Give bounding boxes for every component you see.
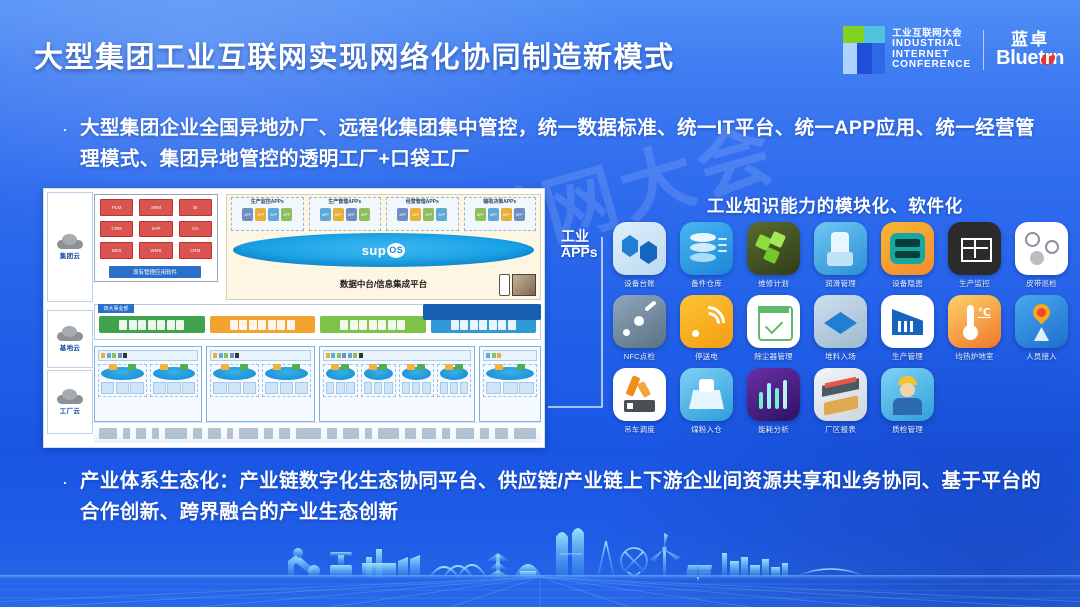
divisions-tag: 四大事业部 [98, 304, 134, 313]
factory-device-row [402, 382, 431, 394]
app-row: 设备台账 备件仓库 维修计划 润滑管理 设备隐患 生产监控 [612, 222, 1080, 289]
app-item-soaking-pit[interactable]: ℃ 均热炉地室 [947, 295, 1002, 362]
factory-node [323, 364, 358, 397]
app-category-production-monitor: 生产监控APPs APP APP APP APP [231, 197, 304, 231]
mini-app: APP [501, 208, 512, 221]
factory-switch-row [210, 350, 310, 361]
stockpile-entry-icon[interactable] [814, 295, 867, 348]
photo-thumbnail [512, 274, 536, 296]
factory-device-row [101, 382, 144, 394]
supos-platform-box: 生产监控APPs APP APP APP APP 生产管理APPs APP AP… [226, 194, 541, 300]
factory-device-row [153, 382, 196, 394]
app-label: 停送电 [695, 351, 718, 362]
factory-node [262, 364, 311, 397]
factory-supos-bowl [265, 367, 308, 380]
app-category-label: 生产监控APPs [232, 198, 303, 205]
industrial-apps-tag: 工业 APPs [561, 228, 598, 260]
legacy-cell: CRM [179, 242, 212, 259]
brand-logo: 蓝卓 Bluetrn [996, 31, 1064, 70]
mini-app-row: APP APP APP APP [465, 207, 536, 222]
factory-nodes [98, 364, 198, 397]
factory-supos-bowl [213, 367, 256, 380]
page-title: 大型集团工业互联网实现网络化协同制造新模式 [34, 34, 675, 76]
brand-en-prefix: Bluet [996, 47, 1045, 69]
app-item-energy-analysis[interactable]: 能耗分析 [746, 368, 801, 435]
app-item-personnel-access[interactable]: 人员接入 [1014, 295, 1069, 362]
crane-dispatch-icon[interactable] [613, 368, 666, 421]
app-item-belt-inspection[interactable]: 皮带巡检 [1014, 222, 1069, 289]
factory-device-row [440, 382, 469, 394]
mini-app: APP [488, 208, 499, 221]
conference-mark-icon [843, 26, 885, 74]
production-manage-icon[interactable] [881, 295, 934, 348]
bullet-point-2: · 产业体系生态化：产业链数字化生态协同平台、供应链/产业链上下游企业间资源共享… [62, 466, 1052, 528]
cloud-icon [57, 389, 83, 404]
app-label: 润滑管理 [825, 278, 856, 289]
factory-node [150, 364, 199, 397]
footer-skyline [0, 527, 1080, 607]
mini-app: APP [255, 208, 266, 221]
factory-block [94, 346, 202, 422]
factory-supos-bowl [402, 367, 431, 380]
cloud-label-factory: 工厂云 [60, 405, 80, 415]
factory-device-row [213, 382, 256, 394]
app-item-device-ledger[interactable]: 设备台账 [612, 222, 667, 289]
factory-node [210, 364, 259, 397]
supos-logo: supOS [233, 233, 534, 267]
logo-group: 工业互联网大会 INDUSTRIAL INTERNET CONFERENCE 蓝… [843, 24, 1064, 76]
app-label: 堆料入场 [825, 351, 856, 362]
app-item-device-hazard[interactable]: 设备隐患 [880, 222, 935, 289]
app-item-crane-dispatch[interactable]: 吊车调度 [612, 368, 667, 435]
factory-node [399, 364, 434, 397]
factory-block [206, 346, 314, 422]
app-label: 煤粉入仓 [691, 424, 722, 435]
cloud-label-group: 集团云 [60, 250, 80, 260]
division-block [210, 316, 316, 333]
app-label: 设备隐患 [892, 278, 923, 289]
mini-app: APP [242, 208, 253, 221]
device-hazard-icon[interactable] [881, 222, 934, 275]
app-item-production-manage[interactable]: 生产管理 [880, 295, 935, 362]
dashboard-strip [423, 304, 541, 320]
mini-app: APP [436, 208, 447, 221]
factory-device-row [326, 382, 355, 394]
skyline-graphic-icon [0, 527, 1080, 607]
cloud-icon [57, 326, 83, 341]
app-label: 质检管理 [892, 424, 923, 435]
legacy-cell: OA [179, 221, 212, 238]
factory-supos-bowl [486, 367, 534, 380]
architecture-diagram: 集团云 基地云 工厂云 PLM SRM BI CRM SAP OA [43, 188, 545, 448]
nfc-check-icon[interactable] [613, 295, 666, 348]
app-category-production-manage: 生产管理APPs APP APP APP APP [309, 197, 382, 231]
app-label: 厂区报表 [825, 424, 856, 435]
brand-name-en: Bluetrn [996, 48, 1064, 69]
brand-en-dot-letter: r [1045, 47, 1052, 69]
factory-nodes [210, 364, 310, 397]
legacy-systems-box: PLM SRM BI CRM SAP OA MES WMS CRM 现有管理应用… [94, 194, 218, 282]
brand-red-dot-icon: r [1045, 48, 1052, 69]
spare-parts-store-icon[interactable] [680, 222, 733, 275]
app-item-plant-report[interactable]: 厂区报表 [813, 368, 868, 435]
factory-supos-bowl [440, 367, 469, 380]
soaking-pit-icon[interactable]: ℃ [948, 295, 1001, 348]
app-item-production-monitor[interactable]: 生产监控 [947, 222, 1002, 289]
slide-header: 大型集团工业互联网实现网络化协同制造新模式 工业互联网大会 INDUSTRIAL… [0, 0, 1080, 96]
app-category-label: 辅助决策APPs [465, 198, 536, 205]
quality-check-icon[interactable] [881, 368, 934, 421]
brand-name-cn: 蓝卓 [1011, 31, 1049, 49]
factories-row [94, 346, 541, 422]
mini-app: APP [346, 208, 357, 221]
supos-text: sup [362, 243, 387, 258]
mini-app-row: APP APP APP APP [310, 207, 381, 222]
factory-switch-row [98, 350, 198, 361]
app-label: 均热炉地室 [955, 351, 994, 362]
bullet-1-text: 大型集团企业全国异地办厂、远程化集团集中管控，统一数据标准、统一IT平台、统一A… [80, 113, 1052, 175]
slide-root: 大型集团工业互联网实现网络化协同制造新模式 工业互联网大会 INDUSTRIAL… [0, 0, 1080, 607]
lubrication-icon[interactable] [814, 222, 867, 275]
app-category-business-manage: 经营管理APPs APP APP APP APP [386, 197, 459, 231]
cloud-group-enterprise: 集团云 [47, 192, 93, 302]
device-thumbnails [499, 274, 536, 296]
app-label: 人员接入 [1026, 351, 1057, 362]
diagram-main: PLM SRM BI CRM SAP OA MES WMS CRM 现有管理应用… [94, 192, 541, 444]
phone-icon [499, 274, 510, 296]
app-category-row: 生产监控APPs APP APP APP APP 生产管理APPs APP AP… [231, 197, 536, 231]
bullet-marker-icon: · [62, 113, 68, 144]
supos-badge: OS [387, 243, 405, 258]
connector-line [546, 235, 606, 410]
cloud-label-base: 基地云 [60, 342, 80, 352]
factory-node [483, 364, 537, 397]
bullet-2-text: 产业体系生态化：产业链数字化生态协同平台、供应链/产业链上下游企业间资源共享和业… [80, 466, 1052, 528]
factory-device-row [265, 382, 308, 394]
app-item-spare-parts-store[interactable]: 备件仓库 [679, 222, 734, 289]
app-item-stockpile-entry[interactable]: 堆料入场 [813, 295, 868, 362]
industrial-apps-grid: 设备台账 备件仓库 维修计划 润滑管理 设备隐患 生产监控 [612, 222, 1080, 441]
legacy-footer-label: 现有管理应用软件 [109, 266, 201, 278]
mini-app: APP [410, 208, 421, 221]
app-category-decision-support: 辅助决策APPs APP APP APP APP [464, 197, 537, 231]
app-row: 吊车调度 煤粉入仓 能耗分析 厂区报表 质检管理 [612, 368, 1080, 435]
industrial-apps-tag-en: APPs [561, 244, 598, 260]
factory-switch-row [483, 350, 537, 361]
cloud-icon [57, 234, 83, 249]
factory-supos-bowl [153, 367, 196, 380]
app-label: 皮带巡检 [1026, 278, 1057, 289]
mini-app-row: APP APP APP APP [387, 207, 458, 222]
app-label: 吊车调度 [624, 424, 655, 435]
apps-panel-title: 工业知识能力的模块化、软件化 [600, 193, 1070, 218]
logo-divider [983, 30, 984, 70]
conference-logo: 工业互联网大会 INDUSTRIAL INTERNET CONFERENCE [843, 26, 971, 74]
factory-switch-row [323, 350, 472, 361]
app-item-power-switch[interactable]: 停送电 [679, 295, 734, 362]
conference-logo-text: 工业互联网大会 INDUSTRIAL INTERNET CONFERENCE [892, 29, 971, 71]
app-label: 除尘器管理 [754, 351, 793, 362]
legacy-systems-grid: PLM SRM BI CRM SAP OA MES WMS CRM [100, 199, 212, 259]
mini-app: APP [333, 208, 344, 221]
app-item-nfc-check[interactable]: NFC点检 [612, 295, 667, 362]
division-block [320, 316, 426, 333]
legacy-cell: SRM [139, 199, 172, 216]
legacy-cell: PLM [100, 199, 133, 216]
mini-app: APP [397, 208, 408, 221]
app-label: 备件仓库 [691, 278, 722, 289]
factory-supos-bowl [364, 367, 393, 380]
app-label: 能耗分析 [758, 424, 789, 435]
energy-analysis-icon[interactable] [747, 368, 800, 421]
mini-app: APP [320, 208, 331, 221]
division-block [99, 316, 205, 333]
belt-inspection-icon[interactable] [1015, 222, 1068, 275]
app-item-lubrication[interactable]: 润滑管理 [813, 222, 868, 289]
factory-node [98, 364, 147, 397]
app-item-quality-check[interactable]: 质检管理 [880, 368, 935, 435]
personnel-access-icon[interactable] [1015, 295, 1068, 348]
app-label: 生产管理 [892, 351, 923, 362]
app-label: 生产监控 [959, 278, 990, 289]
power-switch-icon[interactable] [680, 295, 733, 348]
coal-powder-icon[interactable] [680, 368, 733, 421]
cloud-group-base: 基地云 [47, 310, 93, 368]
mini-app: APP [475, 208, 486, 221]
conference-name-en-3: CONFERENCE [892, 60, 971, 71]
legacy-cell: WMS [139, 242, 172, 259]
mini-app: APP [359, 208, 370, 221]
app-label: NFC点检 [624, 351, 655, 362]
app-row: NFC点检 停送电 除尘器管理 堆料入场 生产管理 ℃ 均热炉地室 [612, 295, 1080, 362]
equipment-strip [94, 422, 541, 443]
bullet-point-1: · 大型集团企业全国异地办厂、远程化集团集中管控，统一数据标准、统一IT平台、统… [62, 113, 1052, 175]
mini-app: APP [514, 208, 525, 221]
factory-block [319, 346, 476, 422]
device-ledger-icon[interactable] [613, 222, 666, 275]
app-item-coal-powder[interactable]: 煤粉入仓 [679, 368, 734, 435]
legacy-cell: CRM [100, 221, 133, 238]
factory-node [361, 364, 396, 397]
cloud-column: 集团云 基地云 工厂云 [47, 192, 91, 444]
bullet-marker-icon: · [62, 466, 68, 497]
factory-node [437, 364, 472, 397]
factory-supos-bowl [101, 367, 144, 380]
mid-platform-label: 数据中台/信息集成平台 [233, 273, 534, 295]
mini-app: APP [268, 208, 279, 221]
factory-device-row [364, 382, 393, 394]
legacy-cell: SAP [139, 221, 172, 238]
app-category-label: 生产管理APPs [310, 198, 381, 205]
app-item-dust-collector[interactable]: 除尘器管理 [746, 295, 801, 362]
factory-block [479, 346, 541, 422]
factory-nodes [323, 364, 472, 397]
mini-app-row: APP APP APP APP [232, 207, 303, 222]
dust-collector-icon[interactable] [747, 295, 800, 348]
app-label: 维修计划 [758, 278, 789, 289]
repair-plan-icon[interactable] [747, 222, 800, 275]
mini-app: APP [423, 208, 434, 221]
cloud-group-factory: 工厂云 [47, 370, 93, 434]
factory-supos-bowl [326, 367, 355, 380]
legacy-cell: BI [179, 199, 212, 216]
legacy-cell: MES [100, 242, 133, 259]
factory-device-row [486, 382, 534, 394]
factory-nodes [483, 364, 537, 397]
app-item-repair-plan[interactable]: 维修计划 [746, 222, 801, 289]
app-category-label: 经营管理APPs [387, 198, 458, 205]
mini-app: APP [281, 208, 292, 221]
plant-report-icon[interactable] [814, 368, 867, 421]
app-label: 设备台账 [624, 278, 655, 289]
production-monitor-icon[interactable] [948, 222, 1001, 275]
